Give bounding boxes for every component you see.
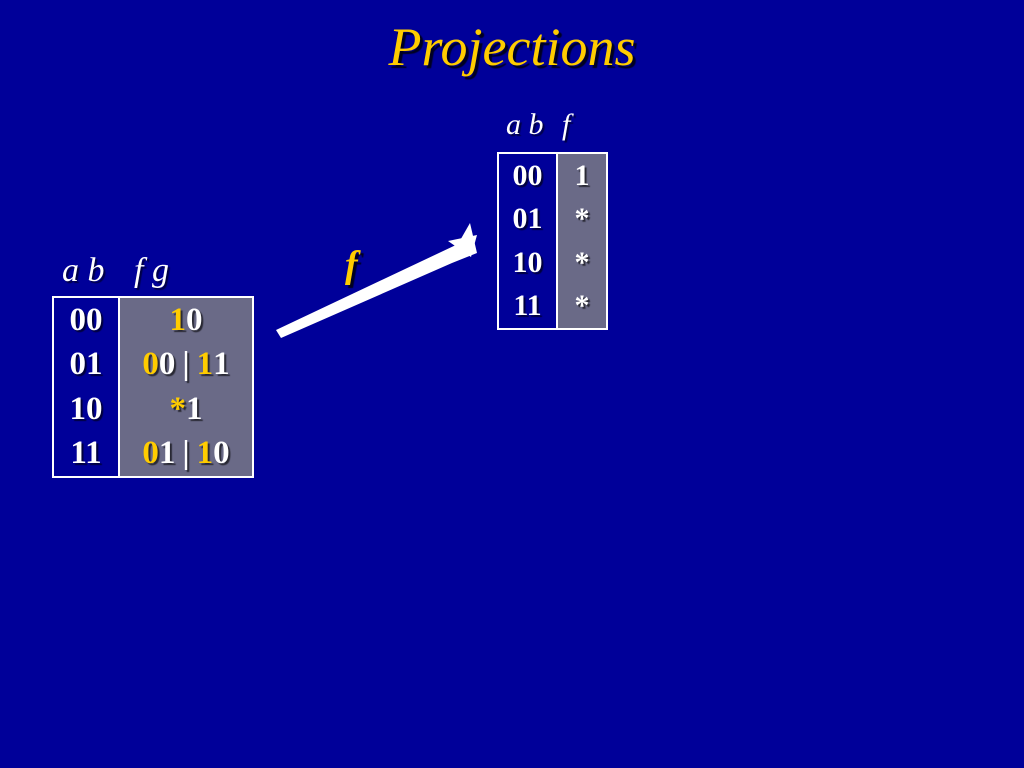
left-table-input-column: 00 01 10 11	[54, 298, 120, 476]
left-table-output-column: 10 00|11 *1 01|10	[120, 298, 252, 476]
table-row: 01	[54, 343, 118, 388]
g-value: 1	[213, 346, 230, 383]
table-row: 10	[120, 298, 252, 343]
g-value: 1	[186, 391, 203, 428]
table-row: 00	[499, 154, 556, 198]
term-separator: |	[175, 435, 196, 472]
g-value: 0	[159, 346, 176, 383]
table-row: 10	[54, 387, 118, 432]
left-table-header-outputs: f g	[134, 252, 169, 290]
table-row: 00|11	[120, 343, 252, 388]
table-row: *	[558, 241, 606, 285]
table-row: 11	[499, 285, 556, 329]
f-value: *	[170, 391, 187, 428]
f-value: 1	[197, 435, 214, 472]
term-separator: |	[175, 346, 196, 383]
page-title: Projections	[0, 16, 1024, 78]
right-table-output-column: 1 * * *	[558, 154, 606, 328]
f-value: 1	[197, 346, 214, 383]
table-row: 01	[499, 198, 556, 242]
right-table-input-column: 00 01 10 11	[499, 154, 558, 328]
left-truth-table: 00 01 10 11 10 00|11 *1 01|10	[52, 296, 254, 478]
left-table-header-inputs: a b	[62, 252, 134, 290]
table-row: 10	[499, 241, 556, 285]
right-table-header: a bf	[506, 108, 570, 142]
f-value: 1	[170, 302, 187, 339]
table-row: 01|10	[120, 432, 252, 477]
table-row: 00	[54, 298, 118, 343]
table-row: *	[558, 285, 606, 329]
right-table-header-outputs: f	[562, 108, 570, 141]
projection-arrow-icon	[262, 215, 492, 345]
table-row: *	[558, 198, 606, 242]
g-value: 0	[213, 435, 230, 472]
left-table-header: a bf g	[62, 252, 169, 290]
table-row: 1	[558, 154, 606, 198]
right-table-header-inputs: a b	[506, 108, 562, 142]
table-row: *1	[120, 387, 252, 432]
table-row: 11	[54, 432, 118, 477]
g-value: 1	[159, 435, 176, 472]
g-value: 0	[186, 302, 203, 339]
slide-canvas: Projections a bf g 00 01 10 11 10 00|11 …	[0, 0, 1024, 768]
f-value: 0	[142, 346, 159, 383]
f-value: 0	[142, 435, 159, 472]
right-truth-table: 00 01 10 11 1 * * *	[497, 152, 608, 330]
arrow-label: f	[345, 243, 358, 287]
